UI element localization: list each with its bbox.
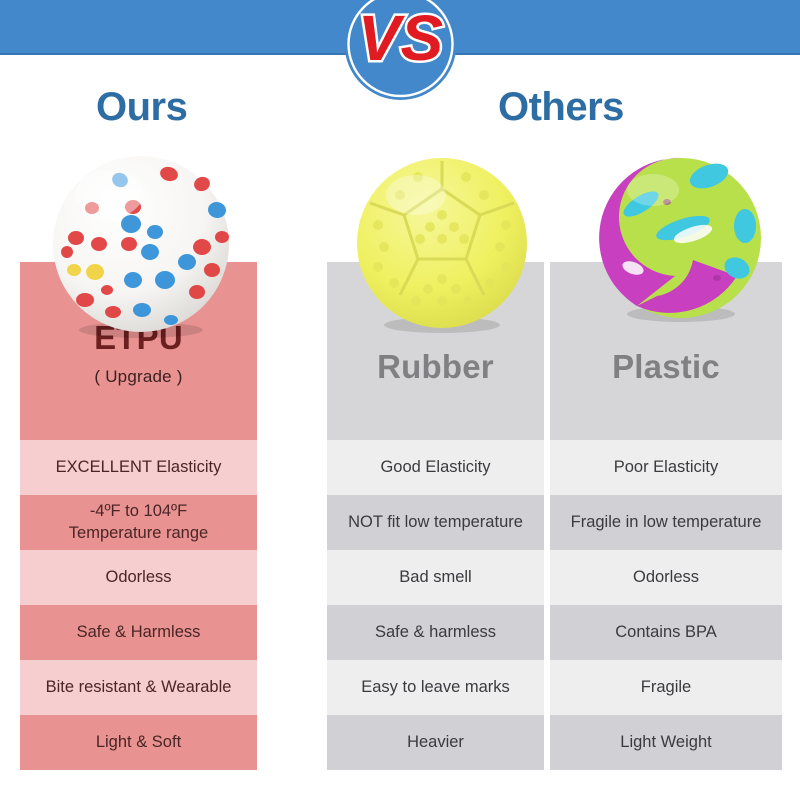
rubber-ball-photo	[356, 155, 528, 335]
feature-cell: Odorless	[20, 550, 257, 605]
feature-cell: Heavier	[327, 715, 544, 770]
feature-cell: Bad smell	[327, 550, 544, 605]
plastic-ball-photo	[597, 156, 765, 324]
feature-cell: Poor Elasticity	[550, 440, 782, 495]
feature-cell: -4ºF to 104ºFTemperature range	[20, 495, 257, 550]
feature-cell: Light & Soft	[20, 715, 257, 770]
material-subtitle: ( Upgrade )	[94, 366, 182, 388]
feature-cell: Odorless	[550, 550, 782, 605]
feature-cell: Safe & Harmless	[20, 605, 257, 660]
feature-cell: Easy to leave marks	[327, 660, 544, 715]
feature-cell: Light Weight	[550, 715, 782, 770]
vs-badge: VS	[328, 0, 473, 102]
feature-cell: Contains BPA	[550, 605, 782, 660]
feature-cell: Good Elasticity	[327, 440, 544, 495]
material-name: Rubber	[377, 346, 494, 388]
feature-cell: Bite resistant & Wearable	[20, 660, 257, 715]
feature-cell: Fragile	[550, 660, 782, 715]
column-plastic: Plastic Poor Elasticity Fragile in low t…	[550, 262, 782, 770]
material-name: Plastic	[612, 346, 720, 388]
feature-cell: Safe & harmless	[327, 605, 544, 660]
column-rubber: Rubber Good Elasticity NOT fit low tempe…	[327, 262, 544, 770]
vs-badge-label: VS	[358, 2, 444, 74]
feature-cell: Fragile in low temperature	[550, 495, 782, 550]
comparison-table: ETPU ( Upgrade ) EXCELLENT Elasticity -4…	[0, 0, 800, 791]
feature-cell: EXCELLENT Elasticity	[20, 440, 257, 495]
etpu-ball-photo	[47, 152, 235, 340]
feature-cell: NOT fit low temperature	[327, 495, 544, 550]
